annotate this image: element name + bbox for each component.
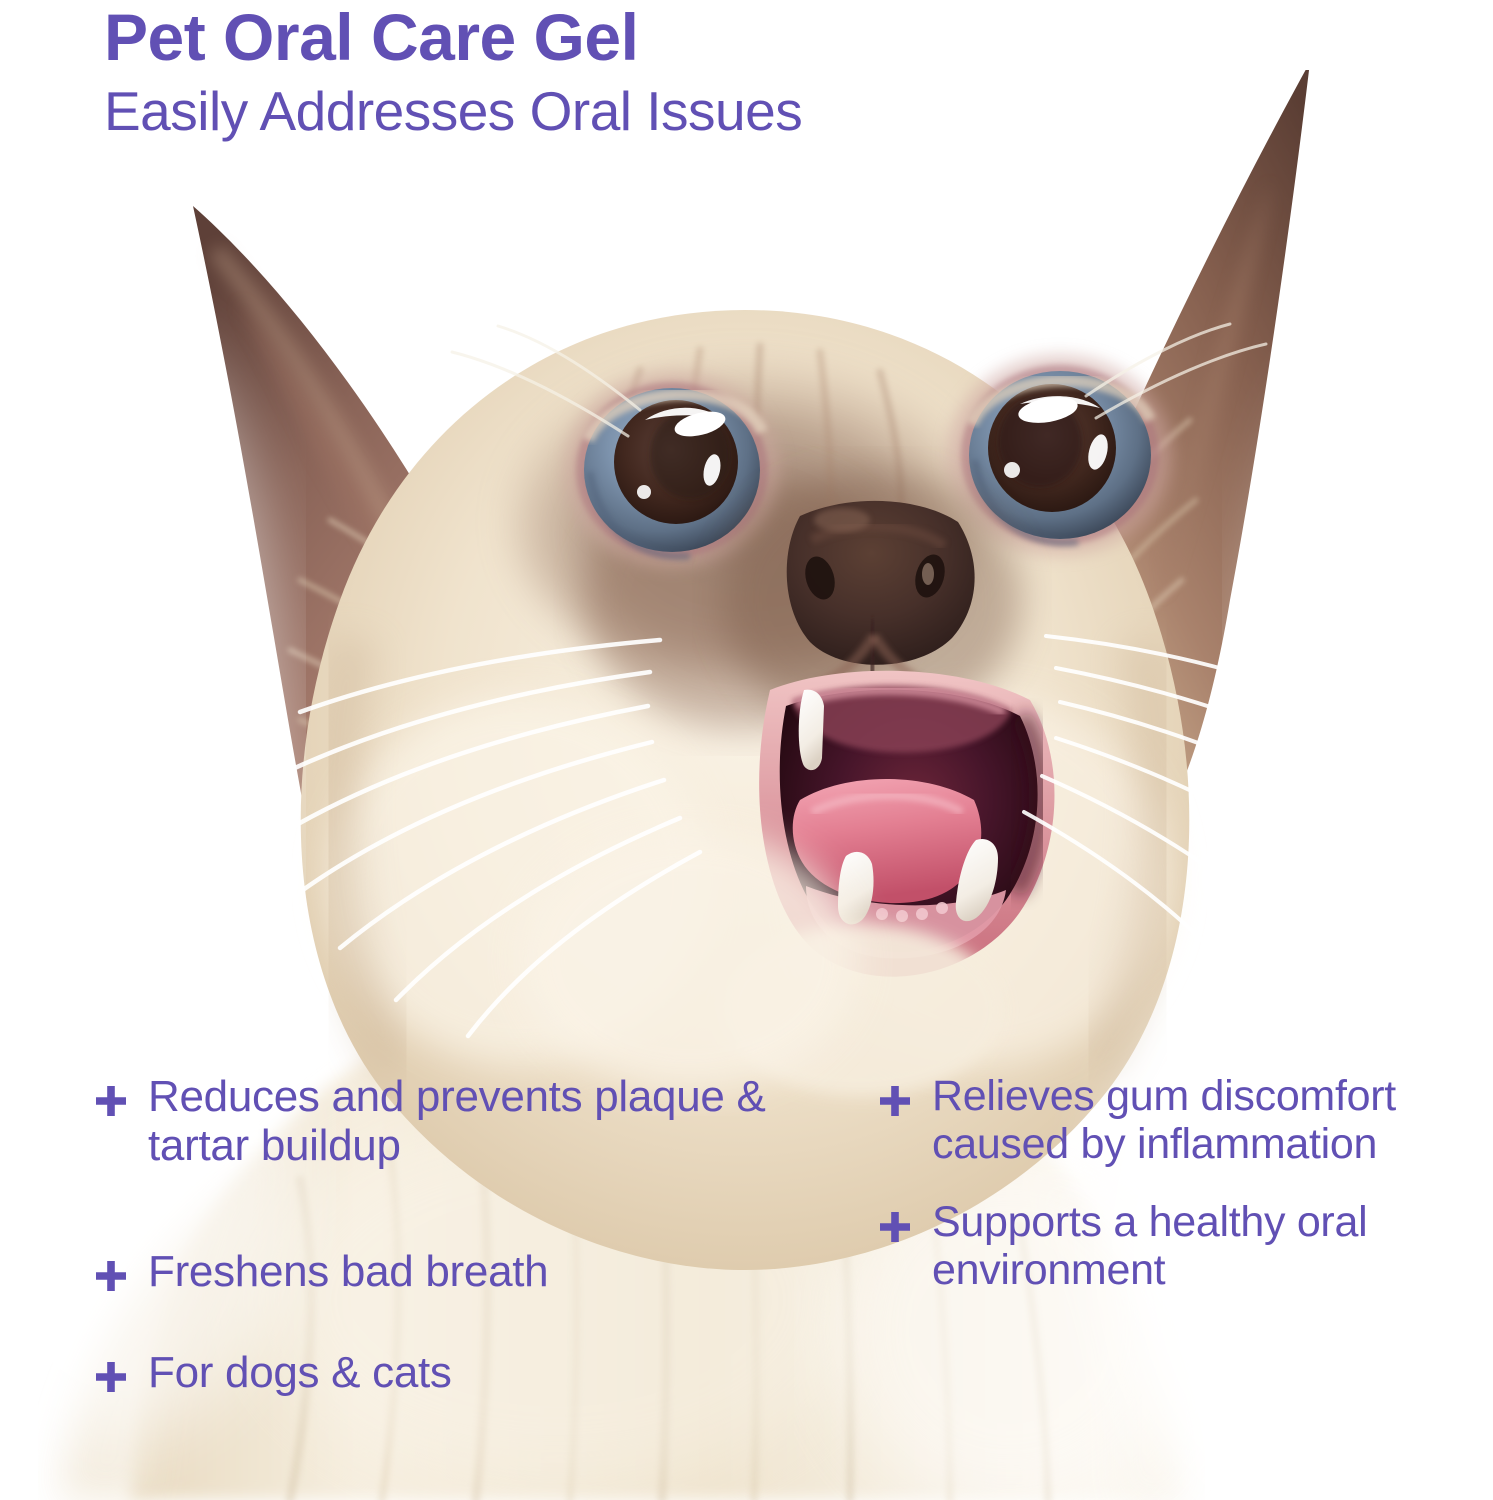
benefit-item: Relieves gum discomfort caused by inflam…	[880, 1072, 1490, 1168]
benefits-list-left: Reduces and prevents plaque & tartar bui…	[96, 1072, 816, 1397]
benefit-text: Supports a healthy oral environment	[932, 1198, 1490, 1294]
plus-icon	[96, 1086, 126, 1116]
page-title: Pet Oral Care Gel	[104, 4, 802, 70]
benefit-item: Freshens bad breath	[96, 1247, 816, 1296]
product-feature-image: Pet Oral Care Gel Easily Addresses Oral …	[0, 0, 1493, 1500]
benefit-text: Reduces and prevents plaque & tartar bui…	[148, 1072, 816, 1171]
spacer	[96, 1296, 816, 1348]
benefit-item: Reduces and prevents plaque & tartar bui…	[96, 1072, 816, 1171]
plus-icon	[96, 1362, 126, 1392]
benefits-list-right: Relieves gum discomfort caused by inflam…	[880, 1072, 1490, 1295]
plus-icon	[880, 1212, 910, 1242]
benefit-text: Relieves gum discomfort caused by inflam…	[932, 1072, 1490, 1168]
plus-icon	[96, 1261, 126, 1291]
benefit-text: Freshens bad breath	[148, 1247, 548, 1296]
spacer	[96, 1171, 816, 1247]
plus-icon	[880, 1086, 910, 1116]
benefit-text: For dogs & cats	[148, 1348, 452, 1397]
page-subtitle: Easily Addresses Oral Issues	[104, 84, 802, 139]
spacer	[880, 1168, 1490, 1198]
headline-block: Pet Oral Care Gel Easily Addresses Oral …	[104, 4, 802, 139]
benefit-item: Supports a healthy oral environment	[880, 1198, 1490, 1294]
benefit-item: For dogs & cats	[96, 1348, 816, 1397]
